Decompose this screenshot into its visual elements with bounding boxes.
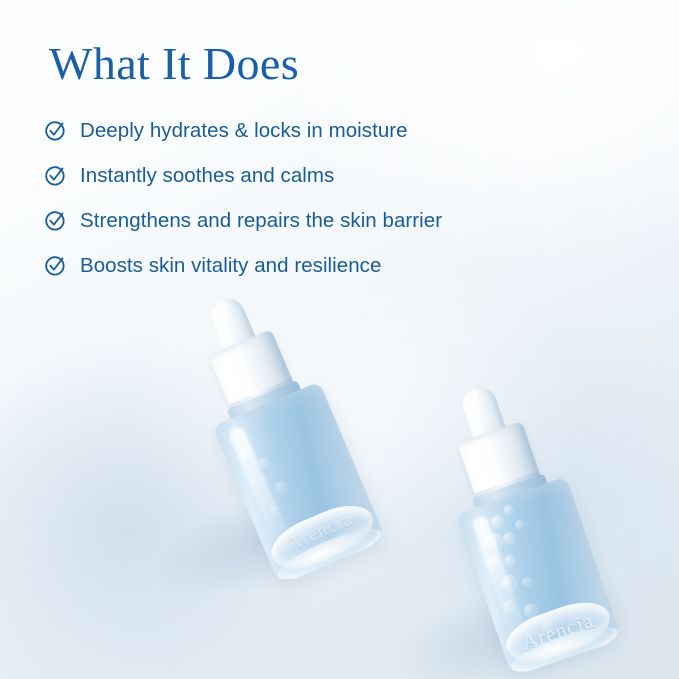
list-item: Strengthens and repairs the skin barrier [44,198,644,243]
benefits-list: Deeply hydrates & locks in moisture Inst… [44,108,644,288]
serum-dropper-bottle-front: Arencia moisture water ampoule 30 ml / 1… [395,361,652,679]
check-circle-icon [44,254,67,277]
list-item: Boosts skin vitality and resilience [44,243,644,288]
product-benefits-graphic: What It Does Deeply hydrates & locks in … [0,0,679,679]
list-item: Deeply hydrates & locks in moisture [44,108,644,153]
check-circle-icon [44,209,67,232]
list-item: Instantly soothes and calms [44,153,644,198]
check-circle-icon [44,164,67,187]
list-item-label: Strengthens and repairs the skin barrier [80,209,442,233]
bottle-body: Arencia moisture water ampoule 30 ml / 1… [456,477,622,677]
check-circle-icon [44,119,67,142]
page-title: What It Does [49,38,299,90]
list-item-label: Instantly soothes and calms [80,164,334,188]
list-item-label: Boosts skin vitality and resilience [80,254,381,278]
serum-dropper-bottle-back: Arencia hydrating ampoule serum [148,269,409,598]
list-item-label: Deeply hydrates & locks in moisture [80,119,408,143]
